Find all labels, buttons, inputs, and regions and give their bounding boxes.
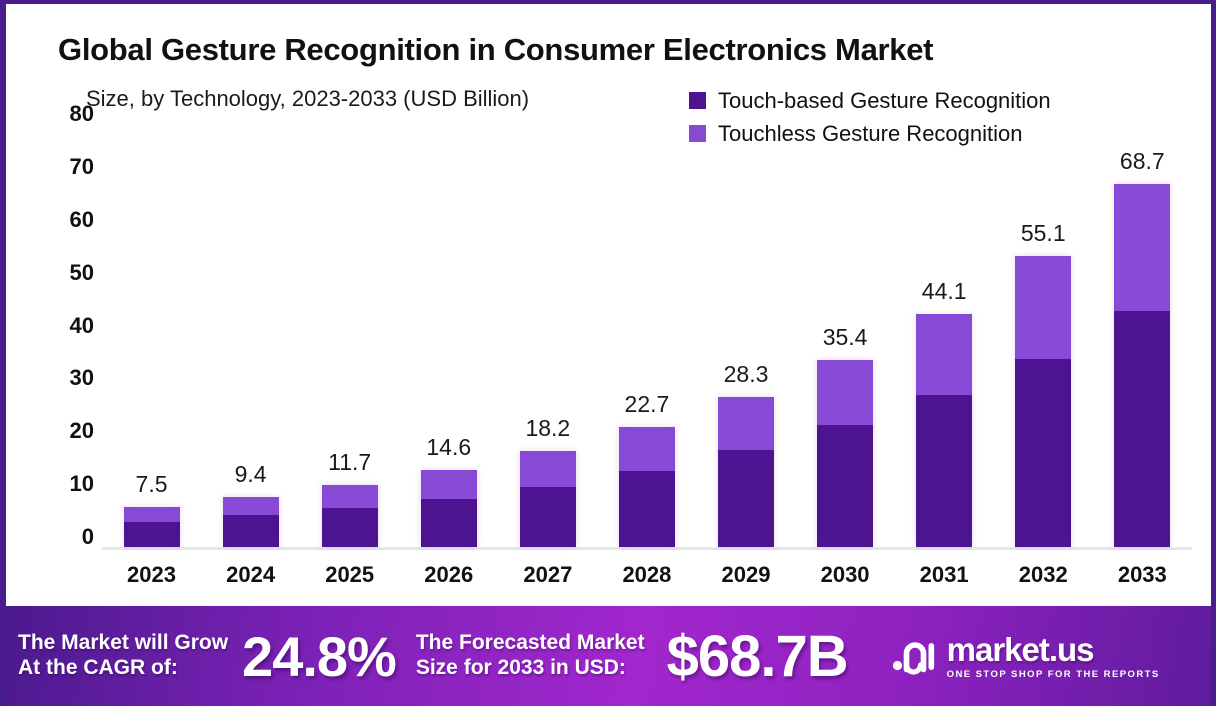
logo-wordmark: market.us	[947, 633, 1094, 666]
bar-segment-touch-based[interactable]	[916, 395, 972, 547]
x-axis-tick-label: 2029	[697, 562, 796, 588]
bar-value-label: 9.4	[235, 461, 267, 488]
x-axis-tick-label: 2028	[597, 562, 696, 588]
bar-column[interactable]: 44.1	[895, 124, 994, 547]
y-axis-tick-label: 60	[70, 207, 94, 233]
bar-column[interactable]: 28.3	[697, 124, 796, 547]
bar-segment-touch-based[interactable]	[718, 450, 774, 547]
bar-stack[interactable]: 11.7	[322, 485, 378, 547]
bar-segment-touchless[interactable]	[1015, 256, 1071, 359]
bar-series-group: 7.59.411.714.618.222.728.335.444.155.168…	[102, 124, 1192, 547]
bar-value-label: 7.5	[136, 471, 168, 498]
legend-swatch-icon	[689, 92, 706, 109]
bar-segment-touchless[interactable]	[421, 470, 477, 499]
logo-tagline: ONE STOP SHOP FOR THE REPORTS	[947, 669, 1160, 680]
bar-segment-touch-based[interactable]	[322, 508, 378, 547]
y-axis-tick-label: 70	[70, 154, 94, 180]
legend-item-touch-based: Touch-based Gesture Recognition	[689, 84, 1051, 117]
bar-value-label: 35.4	[823, 324, 868, 351]
x-axis-labels: 2023202420252026202720282029203020312032…	[102, 562, 1192, 588]
bar-column[interactable]: 22.7	[597, 124, 696, 547]
cagr-block: The Market will Grow At the CAGR of: 24.…	[6, 606, 396, 706]
bar-segment-touch-based[interactable]	[817, 425, 873, 547]
x-axis-tick-label: 2033	[1093, 562, 1192, 588]
bar-value-label: 11.7	[328, 449, 371, 476]
forecast-caption: The Forecasted Market Size for 2033 in U…	[416, 631, 645, 681]
y-axis-tick-label: 80	[70, 101, 94, 127]
bar-segment-touch-based[interactable]	[421, 499, 477, 547]
bar-value-label: 22.7	[625, 391, 670, 418]
bar-segment-touch-based[interactable]	[223, 515, 279, 547]
x-axis-tick-label: 2030	[796, 562, 895, 588]
logo-text: market.us ONE STOP SHOP FOR THE REPORTS	[947, 633, 1160, 680]
legend-label: Touch-based Gesture Recognition	[718, 88, 1051, 114]
bar-segment-touchless[interactable]	[817, 360, 873, 425]
y-axis-tick-label: 50	[70, 260, 94, 286]
cagr-caption: The Market will Grow At the CAGR of:	[18, 631, 228, 681]
bar-value-label: 14.6	[426, 434, 471, 461]
bar-value-label: 28.3	[724, 361, 769, 388]
x-axis-line	[102, 547, 1192, 550]
bar-segment-touchless[interactable]	[124, 507, 180, 521]
y-axis-tick-label: 30	[70, 365, 94, 391]
bar-column[interactable]: 35.4	[796, 124, 895, 547]
bar-stack[interactable]: 14.6	[421, 470, 477, 547]
bar-stack[interactable]: 28.3	[718, 397, 774, 547]
bar-stack[interactable]: 35.4	[817, 360, 873, 547]
bar-segment-touchless[interactable]	[520, 451, 576, 487]
bar-column[interactable]: 68.7	[1093, 124, 1192, 547]
footer-banner: The Market will Grow At the CAGR of: 24.…	[6, 606, 1216, 706]
x-axis-tick-label: 2023	[102, 562, 201, 588]
chart-subtitle: Size, by Technology, 2023-2033 (USD Bill…	[86, 86, 529, 112]
bar-column[interactable]: 14.6	[399, 124, 498, 547]
bar-segment-touchless[interactable]	[223, 497, 279, 515]
bar-segment-touchless[interactable]	[322, 485, 378, 508]
bar-segment-touch-based[interactable]	[1114, 311, 1170, 547]
forecast-caption-line2: Size for 2033 in USD:	[416, 656, 645, 681]
bar-stack[interactable]: 68.7	[1114, 184, 1170, 547]
bar-value-label: 68.7	[1120, 148, 1165, 175]
bar-column[interactable]: 55.1	[994, 124, 1093, 547]
bar-value-label: 44.1	[922, 278, 967, 305]
forecast-value: $68.7B	[667, 623, 848, 690]
forecast-caption-line1: The Forecasted Market	[416, 631, 645, 656]
bar-segment-touch-based[interactable]	[520, 487, 576, 547]
bar-value-label: 18.2	[525, 415, 570, 442]
x-axis-tick-label: 2025	[300, 562, 399, 588]
y-axis-tick-label: 20	[70, 418, 94, 444]
bar-segment-touchless[interactable]	[619, 427, 675, 471]
bar-column[interactable]: 7.5	[102, 124, 201, 547]
bar-stack[interactable]: 55.1	[1015, 256, 1071, 547]
y-axis: 01020304050607080	[42, 114, 94, 542]
x-axis-tick-label: 2026	[399, 562, 498, 588]
y-axis-tick-label: 40	[70, 313, 94, 339]
bar-value-label: 55.1	[1021, 220, 1066, 247]
y-axis-tick-label: 0	[82, 524, 94, 550]
x-axis-tick-label: 2027	[498, 562, 597, 588]
bar-stack[interactable]: 22.7	[619, 427, 675, 547]
bar-stack[interactable]: 18.2	[520, 451, 576, 547]
forecast-block: The Forecasted Market Size for 2033 in U…	[396, 606, 848, 706]
bar-column[interactable]: 18.2	[498, 124, 597, 547]
cagr-caption-line1: The Market will Grow	[18, 631, 228, 656]
market-us-logo[interactable]: market.us ONE STOP SHOP FOR THE REPORTS	[892, 633, 1160, 680]
bar-stack[interactable]: 9.4	[223, 497, 279, 547]
x-axis-tick-label: 2024	[201, 562, 300, 588]
bar-column[interactable]: 9.4	[201, 124, 300, 547]
bar-segment-touchless[interactable]	[1114, 184, 1170, 311]
page-title: Global Gesture Recognition in Consumer E…	[58, 32, 933, 68]
market-us-logo-mark-icon	[892, 635, 938, 677]
bar-stack[interactable]: 7.5	[124, 507, 180, 547]
y-axis-tick-label: 10	[70, 471, 94, 497]
bar-segment-touch-based[interactable]	[619, 471, 675, 547]
bar-segment-touch-based[interactable]	[124, 522, 180, 547]
bar-segment-touchless[interactable]	[718, 397, 774, 450]
infographic-chart-card: Global Gesture Recognition in Consumer E…	[0, 0, 1216, 706]
bar-segment-touchless[interactable]	[916, 314, 972, 395]
bar-stack[interactable]: 44.1	[916, 314, 972, 547]
bar-column[interactable]: 11.7	[300, 124, 399, 547]
cagr-caption-line2: At the CAGR of:	[18, 656, 228, 681]
bar-segment-touch-based[interactable]	[1015, 359, 1071, 547]
x-axis-tick-label: 2031	[895, 562, 994, 588]
x-axis-tick-label: 2032	[994, 562, 1093, 588]
cagr-value: 24.8%	[242, 624, 396, 689]
